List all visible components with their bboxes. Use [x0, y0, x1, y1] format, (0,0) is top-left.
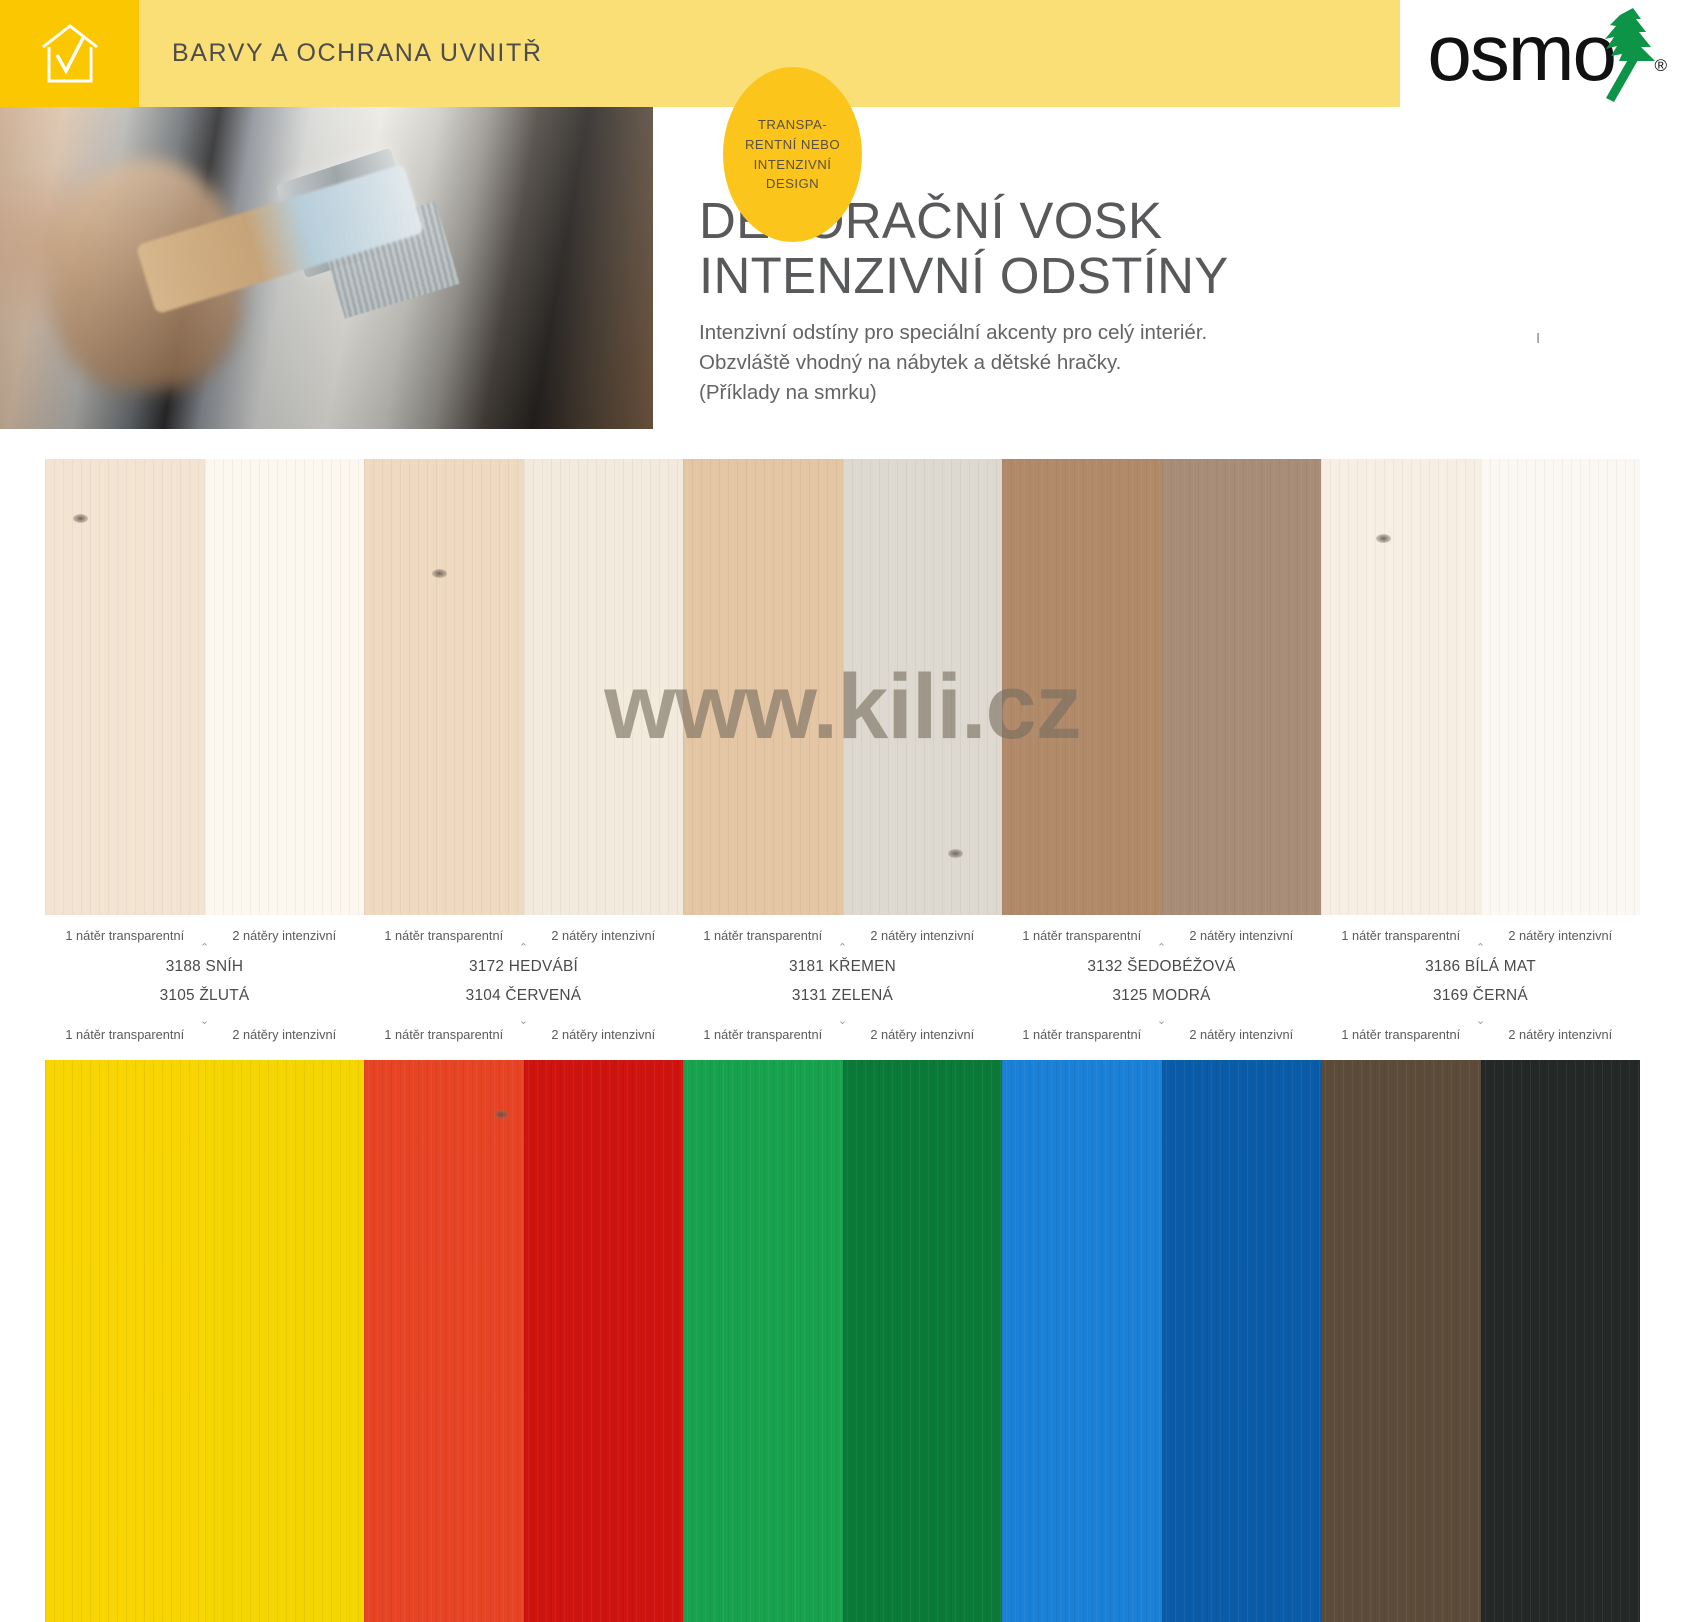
product-name: 3172 HEDVÁBÍ	[364, 958, 683, 976]
swatch-group	[364, 459, 683, 915]
swatch-panel-intensive	[1162, 459, 1322, 915]
registered-mark: ®	[1654, 56, 1667, 76]
product-name: 3188 SNÍH	[45, 958, 364, 976]
hero-photo	[0, 107, 653, 429]
product-name: 3169 ČERNÁ	[1321, 987, 1640, 1005]
caret-icon: ⌃	[1157, 943, 1166, 954]
coat-label-intensive: 2 nátěry intenzivní	[524, 1027, 684, 1042]
coat-label-transparent: 1 nátěr transparentní	[1321, 1027, 1481, 1042]
product-subtitle-line2: Obzvláště vhodný na nábytek a dětské hra…	[699, 348, 1649, 378]
caret-icon: ⌄	[1476, 1016, 1485, 1027]
caret-icon: ⌄	[1157, 1016, 1166, 1027]
osmo-logo: osmo ®	[1393, 0, 1663, 107]
caret-icon: ⌄	[519, 1016, 528, 1027]
product-name: 3186 BÍLÁ MAT	[1321, 958, 1640, 976]
swatch-panel-intensive	[843, 459, 1003, 915]
coat-label-group: 1 nátěr transparentní2 nátěry intenzivní…	[1321, 928, 1640, 954]
coat-label-group: ⌄1 nátěr transparentní2 nátěry intenzivn…	[45, 1016, 364, 1042]
swatch-panel-transparent	[683, 1060, 843, 1622]
page-header: BARVY A OCHRANA UVNITŘ osmo ®	[0, 0, 1685, 107]
caret-icon: ⌃	[200, 943, 209, 954]
swatch-group	[45, 1060, 364, 1622]
wood-knot	[494, 1110, 509, 1119]
product-name: 3105 ŽLUTÁ	[45, 987, 364, 1005]
swatch-panel-transparent	[364, 459, 524, 915]
coat-label-intensive: 2 nátěry intenzivní	[524, 928, 684, 943]
caret-icon: ⌃	[838, 943, 847, 954]
coat-label-transparent: 1 nátěr transparentní	[683, 1027, 843, 1042]
product-subtitle-line1: Intenzivní odstíny pro speciální akcenty…	[699, 318, 1649, 348]
osmo-wordmark: osmo	[1427, 22, 1615, 84]
swatch-panel-intensive	[843, 1060, 1003, 1622]
caret-icon: ⌃	[1476, 943, 1485, 954]
swatch-strip-bottom	[45, 1060, 1640, 1622]
coat-label-intensive: 2 nátěry intenzivní	[1481, 928, 1641, 943]
coat-label-group: 1 nátěr transparentní2 nátěry intenzivní…	[45, 928, 364, 954]
swatch-panel-intensive	[524, 459, 684, 915]
product-title-line2: INTENZIVNÍ ODSTÍNY	[699, 248, 1649, 303]
badge-line-2: RENTNÍ NEBO	[745, 135, 840, 155]
swatch-panel-intensive	[524, 1060, 684, 1622]
coat-label-transparent: 1 nátěr transparentní	[1002, 1027, 1162, 1042]
product-name: 3125 MODRÁ	[1002, 987, 1321, 1005]
badge-line-1: TRANSPA-	[758, 115, 827, 135]
coat-label-transparent: 1 nátěr transparentní	[1002, 928, 1162, 943]
swatch-panel-intensive	[1162, 1060, 1322, 1622]
product-name: 3181 KŘEMEN	[683, 958, 1002, 976]
product-subtitle-line3: (Příklady na smrku)	[699, 378, 1649, 408]
swatch-panel-transparent	[1002, 459, 1162, 915]
swatch-panel-transparent	[1321, 459, 1481, 915]
coat-label-intensive: 2 nátěry intenzivní	[205, 928, 365, 943]
coat-label-intensive: 2 nátěry intenzivní	[843, 928, 1003, 943]
swatch-panel-transparent	[45, 1060, 205, 1622]
product-name: 3131 ZELENÁ	[683, 987, 1002, 1005]
product-title-block: DEKORAČNÍ VOSK INTENZIVNÍ ODSTÍNY Intenz…	[699, 193, 1649, 409]
coat-label-intensive: 2 nátěry intenzivní	[1162, 1027, 1322, 1042]
badge-line-4: DESIGN	[766, 174, 819, 194]
wood-knot	[432, 569, 447, 578]
swatch-panel-intensive	[1481, 1060, 1641, 1622]
swatch-group	[45, 459, 364, 915]
pine-tree-icon: ®	[1589, 6, 1663, 102]
coat-label-group: 1 nátěr transparentní2 nátěry intenzivní…	[364, 928, 683, 954]
coat-label-group: ⌄1 nátěr transparentní2 nátěry intenzivn…	[1321, 1016, 1640, 1042]
swatch-panel-transparent	[45, 459, 205, 915]
swatch-panel-transparent	[683, 459, 843, 915]
page-tick-mark: I	[1536, 330, 1540, 347]
caret-icon: ⌃	[519, 943, 528, 954]
swatch-strip-top	[45, 459, 1640, 915]
product-name-row-top: 3188 SNÍH3172 HEDVÁBÍ3181 KŘEMEN3132 ŠED…	[45, 958, 1640, 976]
product-name: 3132 ŠEDOBÉŽOVÁ	[1002, 958, 1321, 976]
coat-label-group: ⌄1 nátěr transparentní2 nátěry intenzivn…	[683, 1016, 1002, 1042]
coat-label-group: 1 nátěr transparentní2 nátěry intenzivní…	[683, 928, 1002, 954]
swatch-group	[1321, 1060, 1640, 1622]
photo-overlay	[0, 107, 653, 429]
product-name: 3104 ČERVENÁ	[364, 987, 683, 1005]
catalog-page: BARVY A OCHRANA UVNITŘ osmo ® TRANSPA- R…	[0, 0, 1685, 1622]
caret-icon: ⌄	[200, 1016, 209, 1027]
wood-knot	[1376, 534, 1391, 543]
design-badge: TRANSPA- RENTNÍ NEBO INTENZIVNÍ DESIGN	[723, 67, 862, 242]
coat-label-transparent: 1 nátěr transparentní	[364, 1027, 524, 1042]
coat-label-row-bottom: ⌄1 nátěr transparentní2 nátěry intenzivn…	[45, 1016, 1640, 1042]
swatch-panel-intensive	[205, 459, 365, 915]
coat-label-intensive: 2 nátěry intenzivní	[843, 1027, 1003, 1042]
coat-label-group: ⌄1 nátěr transparentní2 nátěry intenzivn…	[1002, 1016, 1321, 1042]
coat-label-transparent: 1 nátěr transparentní	[364, 928, 524, 943]
coat-label-intensive: 2 nátěry intenzivní	[205, 1027, 365, 1042]
coat-label-group: ⌄1 nátěr transparentní2 nátěry intenzivn…	[364, 1016, 683, 1042]
swatch-panel-intensive	[205, 1060, 365, 1622]
coat-label-transparent: 1 nátěr transparentní	[1321, 928, 1481, 943]
swatch-group	[1321, 459, 1640, 915]
swatch-group	[683, 1060, 1002, 1622]
swatch-panel-transparent	[1002, 1060, 1162, 1622]
house-check-icon	[0, 0, 139, 107]
coat-label-transparent: 1 nátěr transparentní	[45, 1027, 205, 1042]
swatch-panel-transparent	[1321, 1060, 1481, 1622]
swatch-group	[1002, 459, 1321, 915]
coat-label-intensive: 2 nátěry intenzivní	[1162, 928, 1322, 943]
coat-label-transparent: 1 nátěr transparentní	[45, 928, 205, 943]
coat-label-group: 1 nátěr transparentní2 nátěry intenzivní…	[1002, 928, 1321, 954]
swatch-group	[364, 1060, 683, 1622]
product-name-row-bottom: 3105 ŽLUTÁ3104 ČERVENÁ3131 ZELENÁ3125 MO…	[45, 987, 1640, 1005]
badge-line-3: INTENZIVNÍ	[754, 155, 832, 175]
page-category-title: BARVY A OCHRANA UVNITŘ	[172, 0, 543, 107]
swatch-group	[1002, 1060, 1321, 1622]
caret-icon: ⌄	[838, 1016, 847, 1027]
wood-knot	[948, 849, 963, 858]
swatch-group	[683, 459, 1002, 915]
wood-knot	[73, 514, 88, 523]
coat-label-row-top: 1 nátěr transparentní2 nátěry intenzivní…	[45, 928, 1640, 954]
coat-label-intensive: 2 nátěry intenzivní	[1481, 1027, 1641, 1042]
swatch-panel-intensive	[1481, 459, 1641, 915]
coat-label-transparent: 1 nátěr transparentní	[683, 928, 843, 943]
swatch-panel-transparent	[364, 1060, 524, 1622]
